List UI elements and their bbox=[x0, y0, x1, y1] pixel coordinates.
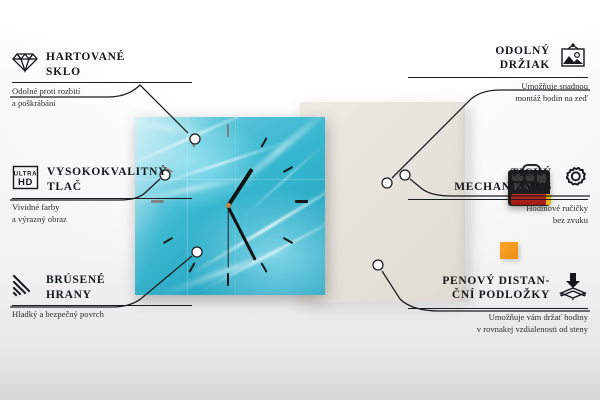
feature-subtitle: Hladký a bezpečný povrch bbox=[12, 309, 192, 321]
product-infographic: HARTOVANÉ SKLO Odolné proti rozbití a po… bbox=[0, 0, 600, 400]
feature-divider bbox=[12, 305, 192, 306]
feature-foam-spacers[interactable]: PENOVÝ DISTAN- ČNÍ PODLOŽKY Umožňuje vám… bbox=[408, 272, 588, 335]
feature-subtitle: Vividné farby a výrazný obraz bbox=[12, 202, 192, 226]
feature-title: BRÚSENÉ HRANY bbox=[46, 273, 105, 302]
feature-subtitle: Umožňuje snadnou montáž hodin na zeď bbox=[408, 81, 588, 105]
feature-divider bbox=[408, 199, 588, 200]
feature-heading: BRÚSENÉ HRANY bbox=[12, 273, 192, 302]
feature-heading: PENOVÝ DISTAN- ČNÍ PODLOŽKY bbox=[408, 272, 588, 305]
feature-tempered-glass[interactable]: HARTOVANÉ SKLO Odolné proti rozbití a po… bbox=[12, 50, 192, 110]
polished-edges-icon bbox=[12, 273, 38, 302]
feature-subtitle: Umožňuje vám držať hodiny v rovnakej vzd… bbox=[408, 312, 588, 336]
foam-spacer-pad bbox=[500, 242, 518, 259]
feature-polished-edges[interactable]: BRÚSENÉ HRANY Hladký a bezpečný povrch bbox=[12, 273, 192, 321]
feature-divider bbox=[408, 308, 588, 309]
diamond-icon bbox=[12, 50, 38, 79]
feature-title: HARTOVANÉ SKLO bbox=[46, 50, 125, 79]
gear-icon bbox=[560, 165, 588, 196]
feature-divider bbox=[12, 82, 192, 83]
feature-title: VYSOKOKVALITNÝ TLAČ bbox=[47, 165, 167, 194]
feature-durable-hanger[interactable]: ODOLNÝ DRŽIAK Umožňuje snadnou montáž ho… bbox=[408, 43, 588, 104]
feature-subtitle: Hodinové ručičky bez zvuku bbox=[408, 203, 588, 227]
feature-title: ODOLNÝ DRŽIAK bbox=[495, 44, 550, 73]
ultra-hd-icon: ultra HD bbox=[12, 165, 39, 195]
feature-heading: HARTOVANÉ SKLO bbox=[12, 50, 192, 79]
feature-subtitle: Odolné proti rozbití a poškrábání bbox=[12, 86, 192, 110]
feature-high-quality-print[interactable]: ultra HD VYSOKOKVALITNÝ TLAČ Vividné far… bbox=[12, 165, 192, 225]
svg-text:HD: HD bbox=[18, 177, 33, 188]
minute-hand bbox=[227, 205, 257, 260]
feature-heading: ODOLNÝ DRŽIAK bbox=[408, 43, 588, 74]
feature-silent-mechanism[interactable]: TICHÝ MECHANIZMUS Hodinové ručičky bez z… bbox=[408, 165, 588, 226]
foam-pad-arrow-icon bbox=[558, 272, 588, 305]
picture-frame-hanger-icon bbox=[558, 43, 588, 74]
feature-divider bbox=[408, 77, 588, 78]
feature-title: PENOVÝ DISTAN- ČNÍ PODLOŽKY bbox=[442, 274, 550, 303]
feature-title: TICHÝ MECHANIZMUS bbox=[454, 166, 552, 195]
hand-hub bbox=[226, 203, 231, 208]
second-hand bbox=[227, 206, 228, 268]
feature-heading: TICHÝ MECHANIZMUS bbox=[408, 165, 588, 196]
feature-heading: ultra HD VYSOKOKVALITNÝ TLAČ bbox=[12, 165, 192, 195]
feature-divider bbox=[12, 198, 192, 199]
